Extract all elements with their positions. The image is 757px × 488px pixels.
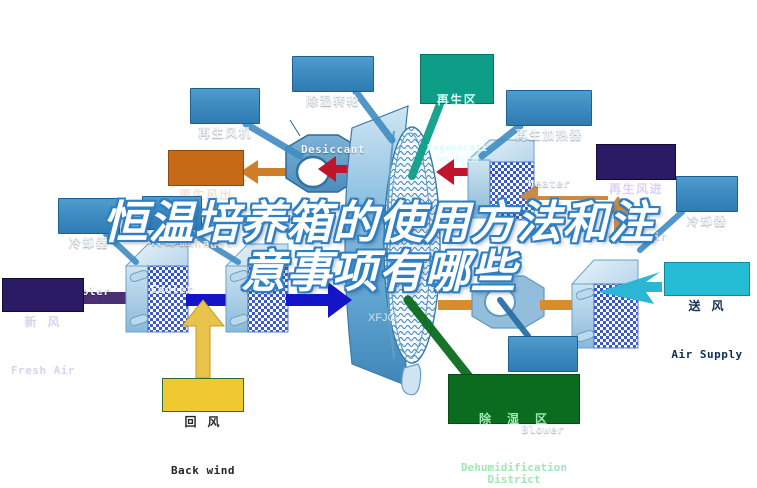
callout-back-wind: 回风 Back wind xyxy=(162,378,244,412)
callout-regen-area-cn: 再生区 xyxy=(421,94,493,107)
callout-desiccant-wheel: 除湿转轮 Desiccant xyxy=(292,56,374,92)
overlay-headline: 恒温培养箱的使用方法和注 意事项有哪些 xyxy=(0,198,757,296)
diagram-canvas: 再生风机 Blower 除湿转轮 Desiccant 再生区 Regenerat… xyxy=(0,0,757,488)
watermark-text: XFJC xyxy=(368,312,396,324)
callout-heater-cn: 再生加热器 xyxy=(507,129,591,142)
callout-exhaust: 再生风出 Exhaust xyxy=(168,150,244,186)
callout-fresh-air-regen: 再生风进 Fresh Air xyxy=(596,144,676,180)
callout-desiccant-en: Desiccant xyxy=(293,144,373,156)
callout-dehum-district-en: Dehumidification District xyxy=(449,462,579,487)
callout-regen-blower: 再生风机 Blower xyxy=(190,88,260,124)
overlay-headline-line1: 恒温培养箱的使用方法和注 xyxy=(0,198,757,247)
callout-air-supply-cn: 送风 xyxy=(665,300,749,313)
callout-dehumidification-district: 除湿区 Dehumidification District xyxy=(448,374,580,424)
callout-dehum-blower: 除湿风机 Blower xyxy=(508,336,578,372)
callout-desiccant-cn: 除湿转轮 xyxy=(293,95,373,108)
callout-fresh-air-inlet-en: Fresh Air xyxy=(3,365,83,377)
callout-back-wind-cn: 回风 xyxy=(163,416,243,429)
overlay-headline-line2: 意事项有哪些 xyxy=(0,247,757,296)
callout-fresh-air-inlet-cn: 新风 xyxy=(3,316,83,329)
callout-regen-blower-cn: 再生风机 xyxy=(191,127,259,140)
callout-air-supply-en: Air Supply xyxy=(665,349,749,361)
callout-regen-heater: 再生加热器 heater xyxy=(506,90,592,126)
callout-regeneration-area: 再生区 Regenerati on Area xyxy=(420,54,494,104)
callout-fresh-air-regen-cn: 再生风进 xyxy=(597,183,675,196)
callout-back-wind-en: Back wind xyxy=(163,465,243,477)
callout-dehum-district-cn: 除湿区 xyxy=(449,413,579,426)
callout-heater-en: heater xyxy=(507,178,591,190)
callout-regen-area-en: Regenerati on Area xyxy=(421,143,493,165)
